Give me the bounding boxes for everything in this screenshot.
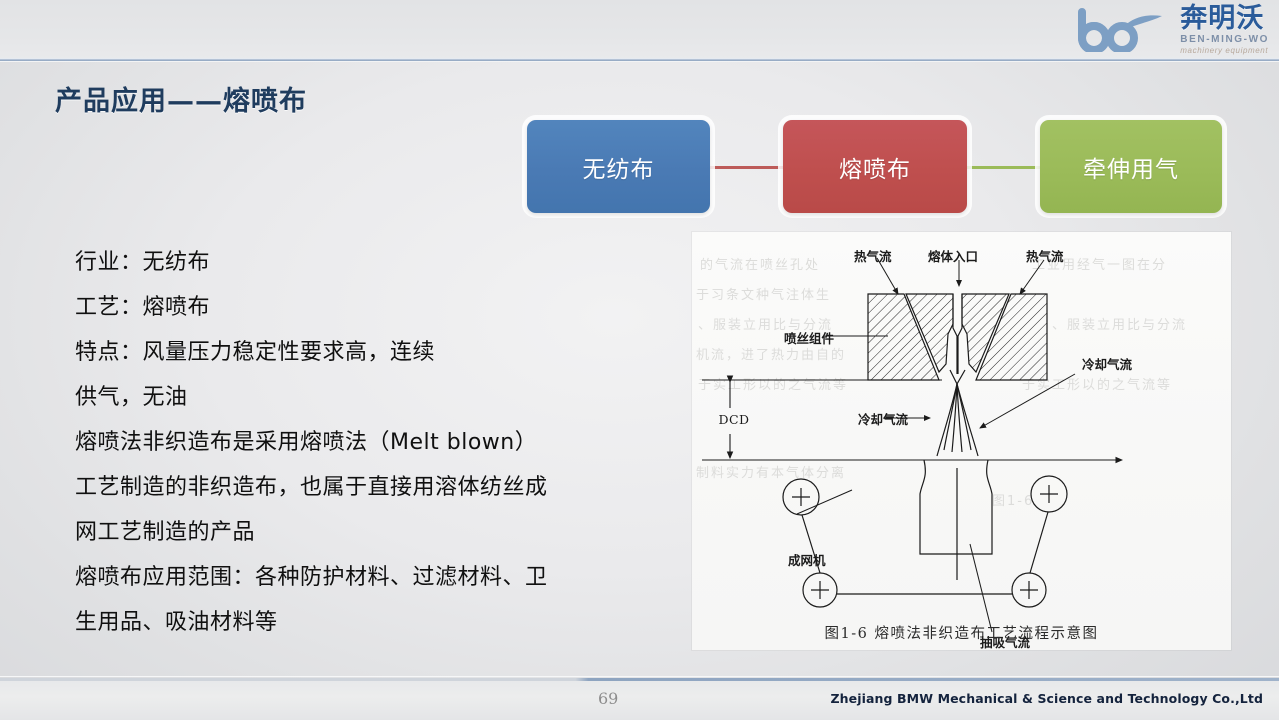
slide-footer: 69 Zhejiang BMW Mechanical & Science and… [0,678,1279,720]
figure-label-cooling-air-center: 冷却气流 [858,409,908,428]
figure-label-melt-inlet: 熔体入口 [928,246,978,265]
flow-box-label: 熔喷布 [839,150,911,184]
slide: 奔明沃 BEN-MING-WO machinery equipment 产品应用… [0,0,1279,720]
figure-label-dcd: DCD [718,412,749,427]
slide-header: 奔明沃 BEN-MING-WO machinery equipment [0,0,1279,60]
logo-chinese-name: 奔明沃 [1180,5,1264,32]
body-text-block: 行业：无纺布 工艺：熔喷布 特点：风量压力稳定性要求高，连续 供气，无油 熔喷法… [75,240,675,645]
body-line: 熔喷布应用范围：各种防护材料、过滤材料、卫 [75,555,675,600]
figure-label-web-former: 成网机 [788,550,826,569]
figure-caption: 图1-6 熔喷法非织造布工艺流程示意图 [692,622,1231,643]
body-line: 特点：风量压力稳定性要求高，连续 [75,330,675,375]
logo-tagline: machinery equipment [1180,46,1268,56]
body-line: 工艺：熔喷布 [75,285,675,330]
figure-label-spinneret: 喷丝组件 [784,328,834,347]
process-schematic-image: 的气流在喷丝孔处 于习条文种气注体生 、服装立用比与分流 机流，进了热力由自的 … [692,232,1231,650]
company-name: Zhejiang BMW Mechanical & Science and Te… [831,691,1263,706]
logo-english-name: BEN-MING-WO [1180,34,1269,46]
flow-box-label: 无纺布 [583,150,655,184]
company-logo: 奔明沃 BEN-MING-WO machinery equipment [1019,3,1269,57]
body-line: 熔喷法非织造布是采用熔喷法（Melt blown） [75,420,675,465]
body-line: 生用品、吸油材料等 [75,600,675,645]
flow-box-meltblown[interactable]: 熔喷布 [783,120,967,213]
page-title: 产品应用——熔喷布 [55,79,307,118]
body-line: 行业：无纺布 [75,240,675,285]
bo-logo-icon [1076,8,1176,52]
process-flow-diagram: 无纺布 熔喷布 牵伸用气 [527,120,1222,215]
logo-text-block: 奔明沃 BEN-MING-WO machinery equipment [1180,7,1269,53]
figure-label-hot-air-left: 热气流 [854,246,892,265]
header-divider [0,58,1279,62]
body-line: 网工艺制造的产品 [75,510,675,555]
page-number: 69 [598,689,618,708]
schematic-drawing [692,232,1231,650]
flow-box-nonwoven[interactable]: 无纺布 [527,120,710,213]
body-line: 工艺制造的非织造布，也属于直接用溶体纺丝成 [75,465,675,510]
flow-box-drawing-air[interactable]: 牵伸用气 [1040,120,1222,213]
flow-connector-1 [710,166,783,169]
figure-label-hot-air-right: 热气流 [1026,246,1064,265]
flow-box-label: 牵伸用气 [1083,150,1179,184]
footer-divider [0,678,1279,681]
flow-connector-2 [967,166,1040,169]
body-line: 供气，无油 [75,375,675,420]
figure-label-cooling-air-right: 冷却气流 [1082,354,1132,373]
